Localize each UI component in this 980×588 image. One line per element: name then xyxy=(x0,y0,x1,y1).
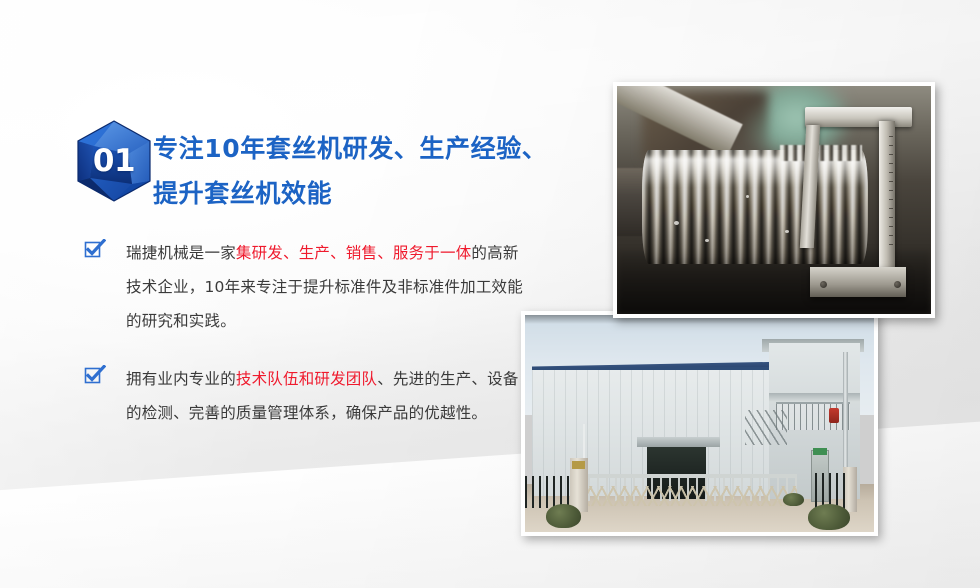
headline-line-1: 专注10年套丝机研发、生产经验、 xyxy=(153,126,553,171)
page-title: 专注10年套丝机研发、生产经验、 提升套丝机效能 xyxy=(153,126,553,216)
photo-staircase xyxy=(745,410,787,445)
body-text: 瑞捷机械是一家 xyxy=(126,244,236,262)
factory-building-photo xyxy=(521,311,878,536)
photo-exit-sign xyxy=(813,448,827,455)
photo-door-canopy xyxy=(637,437,721,448)
checkbox-check-icon xyxy=(84,239,106,259)
photo-vernier-caliper xyxy=(805,107,912,294)
bullet-text-2: 拥有业内专业的技术队伍和研发团队、先进的生产、设备的检测、完善的质量管理体系，确… xyxy=(126,370,519,422)
bullet-text-1: 瑞捷机械是一家集研发、生产、销售、服务于一体的高新技术企业，10年来专注于提升标… xyxy=(126,244,523,330)
body-text: 拥有业内专业的 xyxy=(126,370,236,388)
photo-accordion-gate xyxy=(588,486,797,506)
list-item: 瑞捷机械是一家集研发、生产、销售、服务于一体的高新技术企业，10年来专注于提升标… xyxy=(84,236,524,338)
promo-banner: 01 专注10年套丝机研发、生产经验、 提升套丝机效能 瑞捷机械是一家集研发、生… xyxy=(0,0,980,588)
checkbox-check-icon xyxy=(84,365,106,385)
hexagon-badge-icon: 01 xyxy=(74,120,154,202)
photo-shrub xyxy=(783,493,804,506)
photo-shrub xyxy=(546,504,581,528)
highlighted-text: 集研发、生产、销售、服务于一体 xyxy=(236,244,472,262)
threaded-rod-caliper-photo xyxy=(613,82,935,318)
photo-red-fixture xyxy=(829,408,839,423)
badge-number: 01 xyxy=(74,120,155,202)
text-column: 01 专注10年套丝机研发、生产经验、 提升套丝机效能 瑞捷机械是一家集研发、生… xyxy=(0,0,560,588)
list-item: 拥有业内专业的技术队伍和研发团队、先进的生产、设备的检测、完善的质量管理体系，确… xyxy=(84,362,524,430)
photo-flagpole xyxy=(583,424,585,461)
highlighted-text: 技术队伍和研发团队 xyxy=(236,370,377,388)
photo-shrub xyxy=(808,504,850,530)
photo-gate-plaque xyxy=(572,461,585,468)
bullet-list: 瑞捷机械是一家集研发、生产、销售、服务于一体的高新技术企业，10年来专注于提升标… xyxy=(84,236,524,454)
headline-line-2: 提升套丝机效能 xyxy=(153,171,553,216)
